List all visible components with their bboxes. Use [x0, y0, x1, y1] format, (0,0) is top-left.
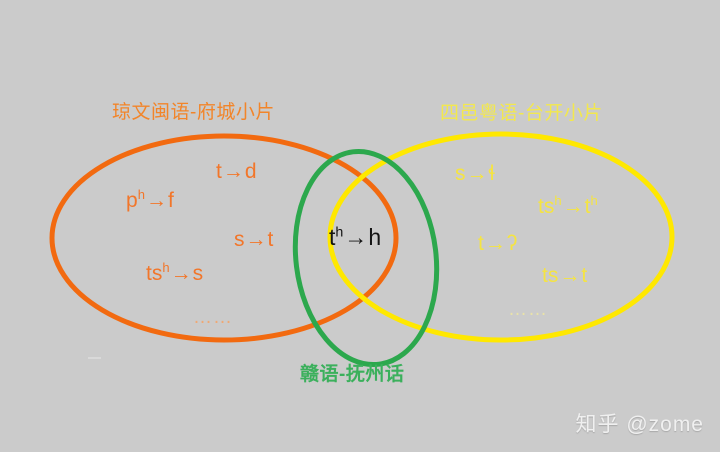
rule-from: ts — [538, 195, 554, 218]
watermark: 知乎 @zome — [575, 408, 704, 438]
arrow-icon: → — [222, 160, 245, 183]
rule-to: ʔ — [507, 232, 518, 255]
rule-to: f — [168, 189, 174, 212]
rule-from: ts — [542, 264, 558, 287]
rule-to: s — [193, 262, 204, 285]
arrow-icon: → — [562, 195, 585, 218]
rule-to-superscript: h — [590, 193, 597, 208]
set-title-center: 赣语-抚州话 — [300, 365, 404, 384]
rule-to: ɬ — [489, 162, 495, 185]
rule-to: t — [268, 228, 274, 251]
rule-to: t — [581, 264, 587, 287]
arrow-icon: → — [466, 162, 489, 185]
rule-right-2: tsh→th — [538, 196, 598, 217]
rule-left-1: t→d — [216, 161, 257, 182]
arrow-icon: → — [484, 232, 507, 255]
rule-from-superscript: h — [162, 260, 169, 275]
arrow-icon: → — [145, 189, 168, 212]
rule-from: t — [216, 160, 222, 183]
arrow-icon: → — [343, 224, 368, 250]
rule-from: p — [126, 189, 138, 212]
set-title-right: 四邑粤语-台开小片 — [440, 104, 603, 123]
rule-left-3: s→t — [234, 229, 273, 250]
rule-to: d — [245, 160, 257, 183]
rule-center-1: th→h — [329, 226, 381, 249]
rule-right-3: t→ʔ — [478, 233, 517, 254]
rule-from: t — [478, 232, 484, 255]
venn-diagram-canvas: 琼文闽语-府城小片 四邑粤语-台开小片 赣语-抚州话 t→d ph→f s→t … — [0, 0, 720, 452]
arrow-icon: → — [245, 228, 268, 251]
rule-from-superscript: h — [554, 193, 561, 208]
ellipsis-right: …… — [508, 300, 548, 319]
rule-from: s — [455, 162, 466, 185]
rule-from: ts — [146, 262, 162, 285]
rule-left-2: ph→f — [126, 190, 174, 211]
artifact-mark — [88, 357, 101, 359]
rule-left-4: tsh→s — [146, 263, 203, 284]
rule-to: h — [368, 224, 381, 250]
ellipsis-left: …… — [193, 308, 233, 327]
rule-from-superscript: h — [138, 187, 145, 202]
set-title-left: 琼文闽语-府城小片 — [112, 103, 275, 122]
arrow-icon: → — [558, 264, 581, 287]
arrow-icon: → — [170, 262, 193, 285]
rule-right-4: ts→t — [542, 265, 587, 286]
rule-from: s — [234, 228, 245, 251]
rule-right-1: s→ɬ — [455, 163, 495, 184]
